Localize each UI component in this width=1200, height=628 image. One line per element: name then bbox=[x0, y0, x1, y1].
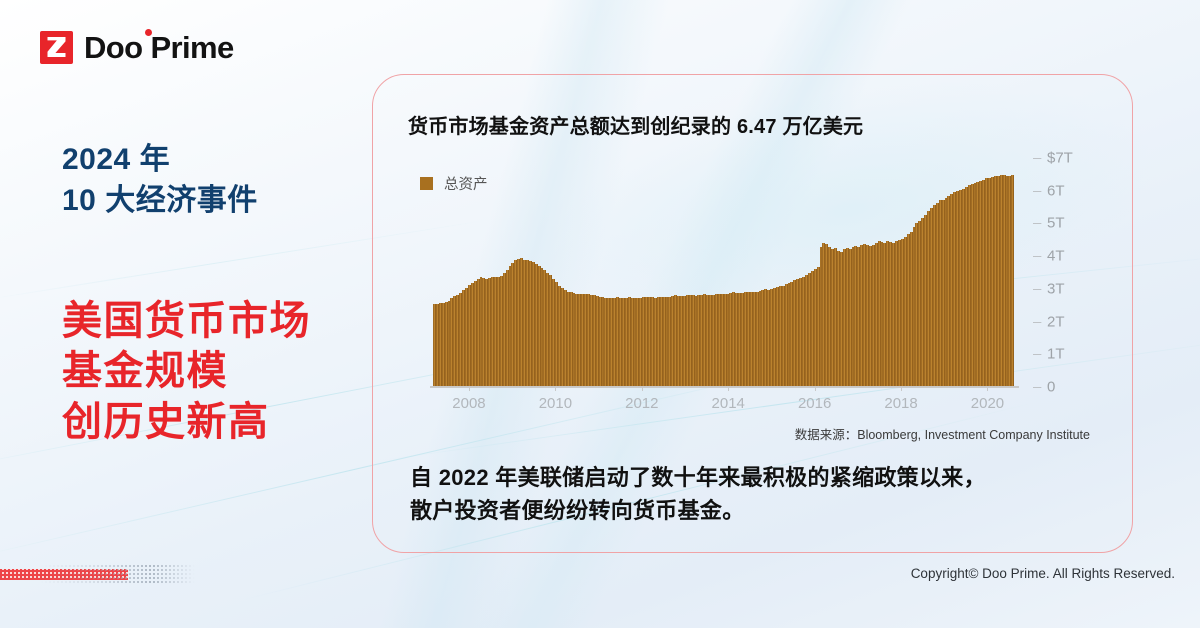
tick-dash-icon: – bbox=[1033, 248, 1042, 265]
chart-x-tick-label: 2016 bbox=[798, 395, 831, 412]
chart-y-tick-label: –1T bbox=[1033, 346, 1065, 363]
tick-dash-icon: – bbox=[1033, 280, 1042, 297]
tick-dash-icon: – bbox=[1033, 182, 1042, 199]
chart-y-tick-label: –5T bbox=[1033, 215, 1065, 232]
chart-caption-line1: 自 2022 年美联储启动了数十年来最积极的紧缩政策以来， bbox=[410, 461, 986, 494]
chart-caption-line2: 散户投资者便纷纷转向货币基金。 bbox=[410, 494, 986, 527]
chart-y-tick-label: –2T bbox=[1033, 313, 1065, 330]
page-title-line1: 美国货币市场 bbox=[62, 296, 311, 346]
series-subtitle-line1: 2024 年 bbox=[62, 139, 258, 180]
page-title-line3: 创历史新高 bbox=[62, 397, 311, 447]
chart-x-tick-mark bbox=[642, 386, 643, 391]
chart-x-tick-mark bbox=[555, 386, 556, 391]
brand-logo: Doo Prime bbox=[40, 31, 234, 64]
tick-dash-icon: – bbox=[1033, 150, 1042, 167]
page-title: 美国货币市场 基金规模 创历史新高 bbox=[62, 296, 311, 447]
chart-y-tick-label: –0 bbox=[1033, 379, 1055, 396]
chart-x-tick-mark bbox=[901, 386, 902, 391]
tick-dash-icon: – bbox=[1033, 346, 1042, 363]
tick-dash-icon: – bbox=[1033, 215, 1042, 232]
chart-x-tick-mark bbox=[728, 386, 729, 391]
chart-x-tick-label: 2008 bbox=[452, 395, 485, 412]
tick-dash-icon: – bbox=[1033, 313, 1042, 330]
chart-x-tick-mark bbox=[815, 386, 816, 391]
chart-x-tick-mark bbox=[987, 386, 988, 391]
chart-source-note: 数据来源：Bloomberg, Investment Company Insti… bbox=[795, 424, 1090, 443]
chart-x-axis-line bbox=[430, 386, 1019, 388]
decorative-gray-dots bbox=[40, 564, 195, 585]
chart-x-tick-label: 2010 bbox=[539, 395, 572, 412]
page-title-line2: 基金规模 bbox=[62, 346, 311, 396]
chart-bars bbox=[433, 158, 1013, 386]
tick-dash-icon: – bbox=[1033, 379, 1042, 396]
decorative-pattern bbox=[0, 561, 200, 587]
chart-caption: 自 2022 年美联储启动了数十年来最积极的紧缩政策以来， 散户投资者便纷纷转向… bbox=[410, 461, 986, 528]
series-subtitle: 2024 年 10 大经济事件 bbox=[62, 139, 258, 221]
doo-prime-logo-icon bbox=[40, 31, 73, 64]
chart-y-tick-label: –3T bbox=[1033, 280, 1065, 297]
chart-x-axis-labels: 2008201020122014201620182020 bbox=[433, 395, 1013, 417]
brand-name: Doo Prime bbox=[84, 32, 234, 63]
copyright-text: Copyright© Doo Prime. All Rights Reserve… bbox=[911, 566, 1175, 581]
series-subtitle-line2: 10 大经济事件 bbox=[62, 180, 258, 221]
chart-x-tick-label: 2012 bbox=[625, 395, 658, 412]
chart-y-tick-label: –$7T bbox=[1033, 150, 1073, 167]
legend-swatch-icon bbox=[420, 177, 433, 190]
chart-plot-area bbox=[433, 158, 1013, 386]
chart-x-tick-label: 2014 bbox=[712, 395, 745, 412]
infographic-page: Doo Prime 2024 年 10 大经济事件 美国货币市场 基金规模 创历… bbox=[0, 0, 1200, 628]
chart-title: 货币市场基金资产总额达到创纪录的 6.47 万亿美元 bbox=[408, 110, 863, 139]
chart-x-tick-label: 2020 bbox=[971, 395, 1004, 412]
logo-accent-dot-icon bbox=[145, 29, 152, 36]
chart-bar bbox=[1011, 175, 1014, 386]
chart-y-tick-label: –6T bbox=[1033, 182, 1065, 199]
chart-y-axis-labels: –$7T–6T–5T–4T–3T–2T–1T–0 bbox=[1033, 158, 1103, 387]
chart-x-tick-mark bbox=[469, 386, 470, 391]
chart-x-tick-label: 2018 bbox=[884, 395, 917, 412]
chart-y-tick-label: –4T bbox=[1033, 248, 1065, 265]
